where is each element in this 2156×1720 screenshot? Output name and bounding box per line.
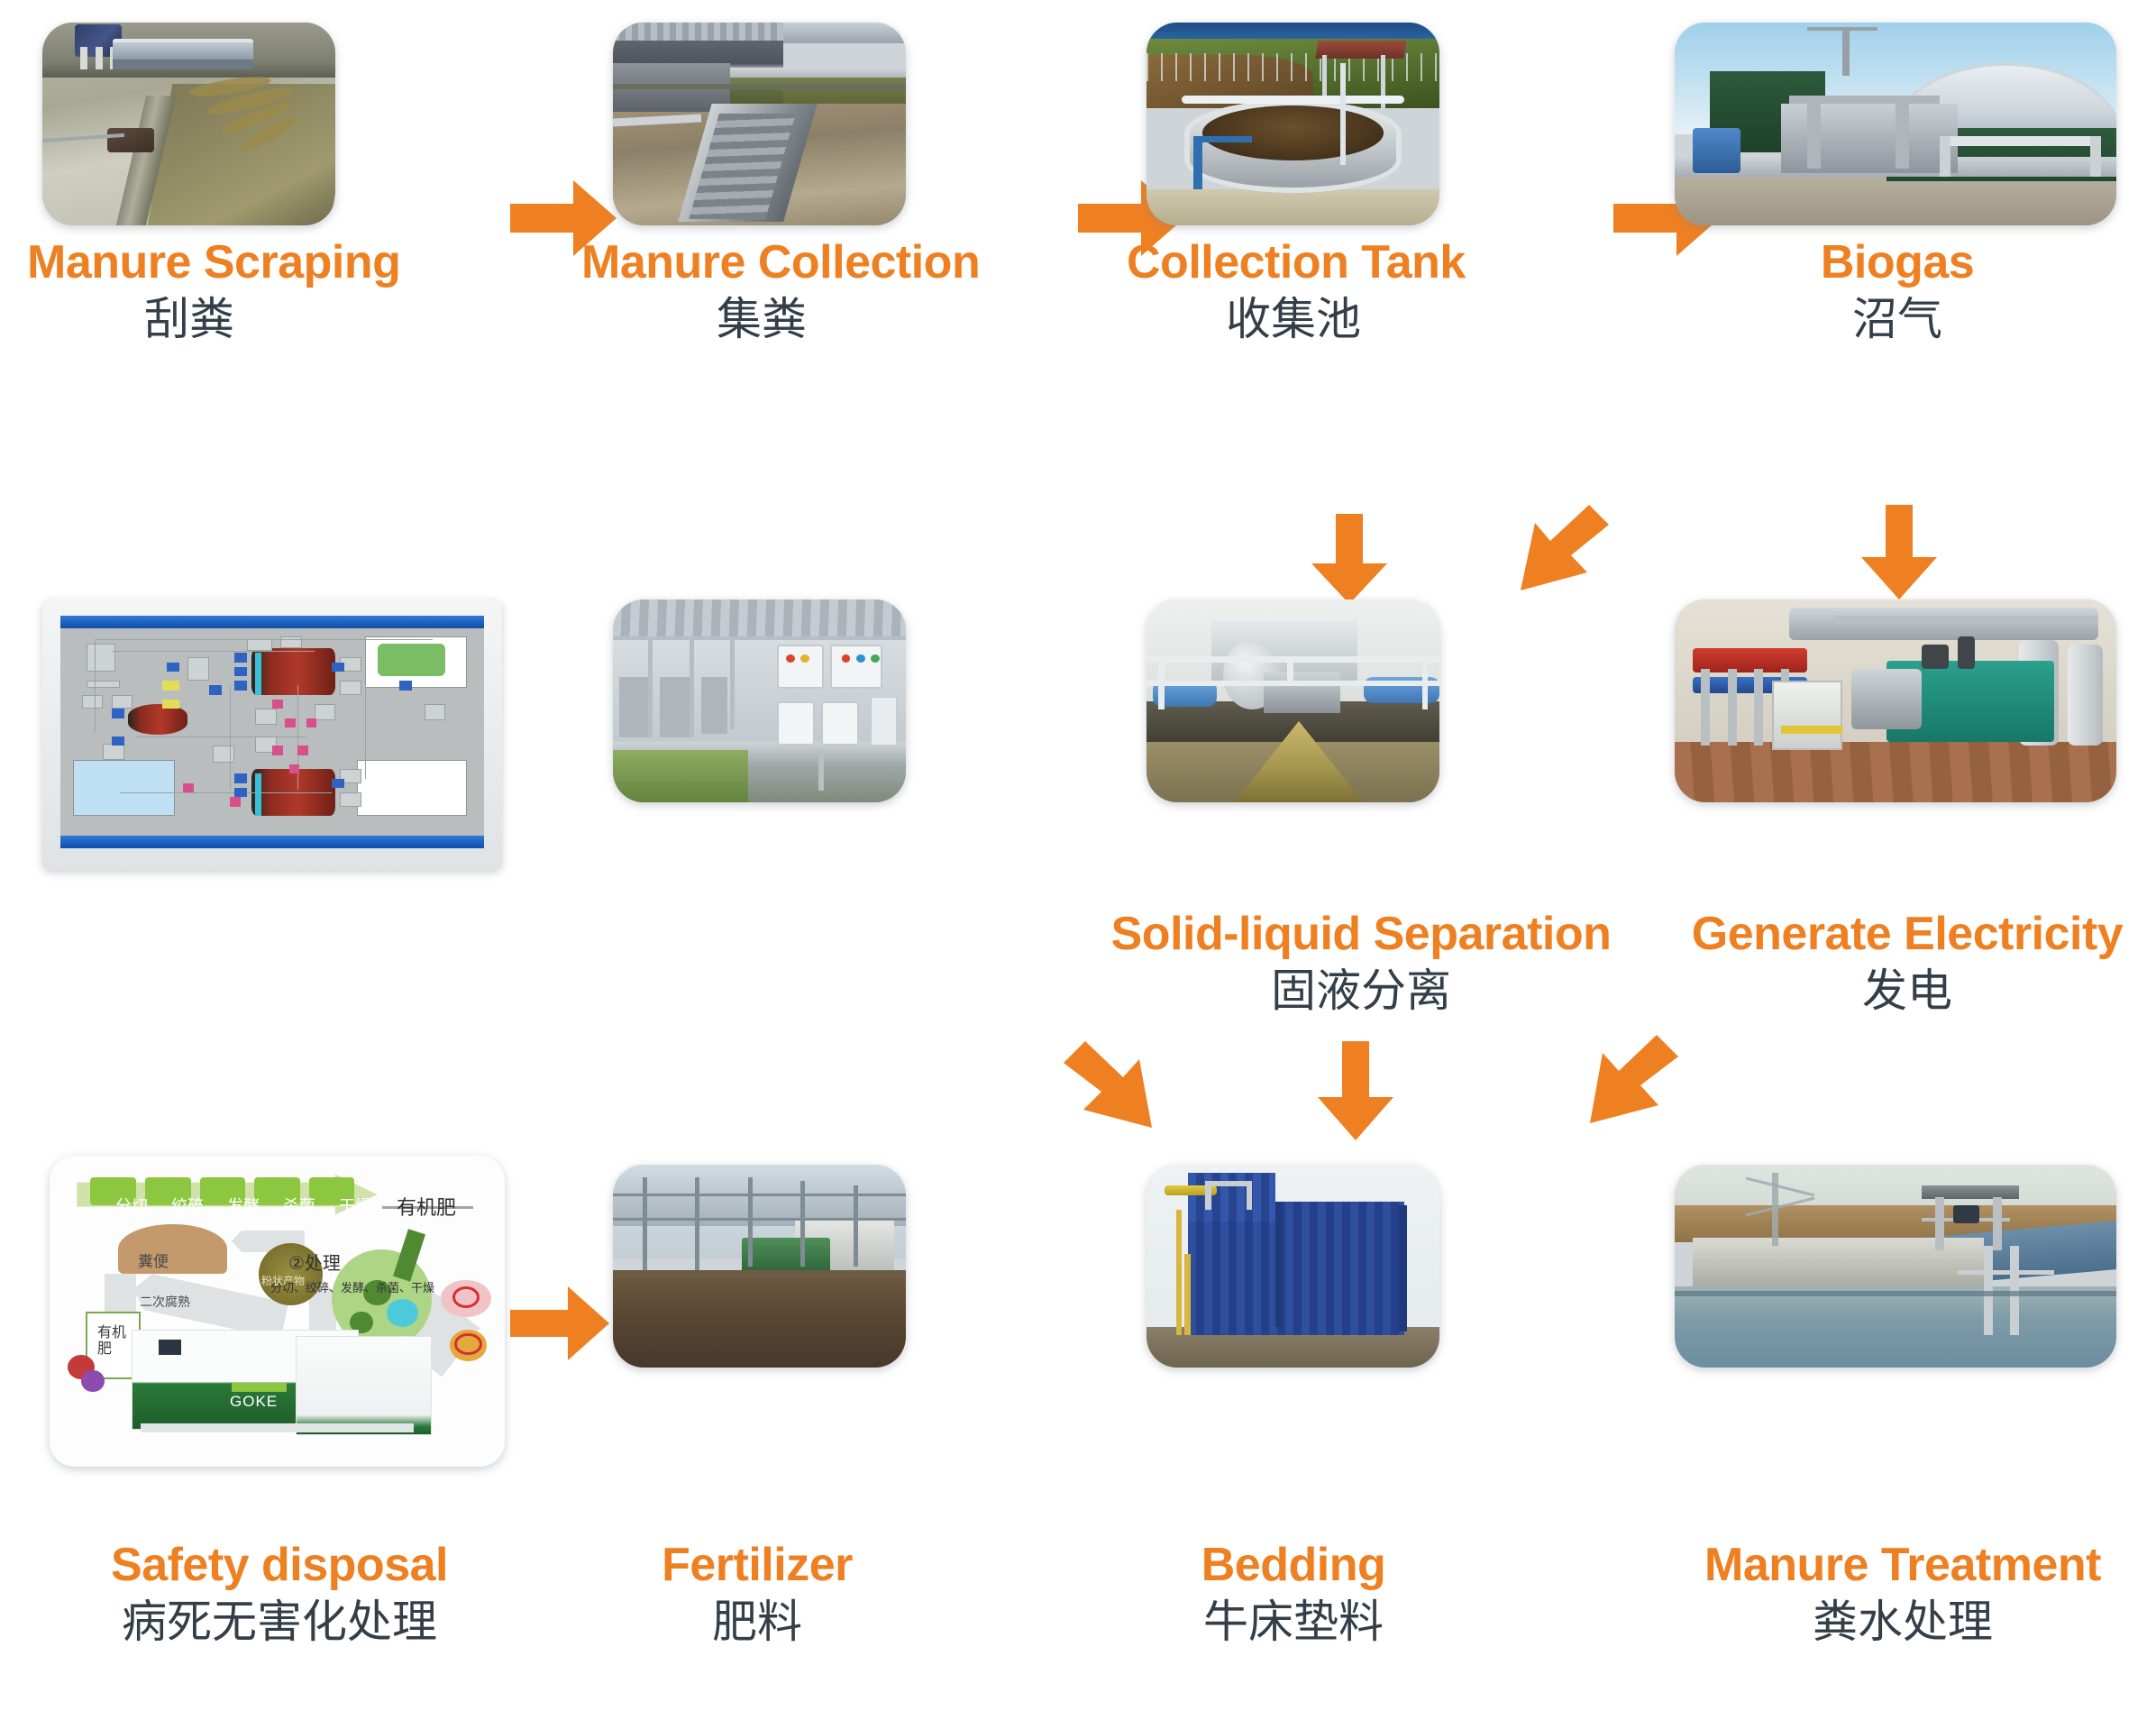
label-zh: 肥料 (577, 1599, 937, 1644)
label-safety-disposal: Safety disposal 病死无害化处理 (9, 1542, 550, 1644)
label-en: Generate Electricity (1658, 910, 2156, 957)
label-generate-electricity: Generate Electricity 发电 (1658, 910, 2156, 1013)
label-zh: 牛床垫料 (1113, 1599, 1474, 1644)
label-solid-liquid-separation: Solid-liquid Separation 固液分离 (1064, 910, 1658, 1013)
label-zh: 发电 (1658, 968, 2156, 1013)
process-flow-diagram: Manure Scraping 刮粪 Manure Collection 集粪 … (0, 0, 2156, 1720)
photo-manure-collection (613, 23, 906, 225)
label-zh: 集粪 (581, 297, 942, 342)
label-en: Biogas (1740, 239, 2055, 286)
photo-generate-electricity (1675, 599, 2116, 802)
label-en: Manure Scraping (27, 239, 352, 286)
label-zh: 病死无害化处理 (9, 1599, 550, 1644)
label-zh: 收集池 (1127, 297, 1460, 342)
photo-bedding (1147, 1165, 1439, 1368)
photo-collection-tank (1147, 23, 1439, 225)
label-biogas: Biogas 沼气 (1740, 239, 2055, 342)
label-fertilizer: Fertilizer 肥料 (577, 1542, 937, 1644)
label-en: Solid-liquid Separation (1064, 910, 1658, 957)
label-en: Manure Treatment (1649, 1542, 2156, 1588)
label-en: Collection Tank (1127, 239, 1460, 286)
arrow-biogas-in-diagonal (1501, 505, 1609, 604)
label-zh: 刮粪 (27, 297, 352, 342)
photo-scada-control (42, 599, 502, 870)
label-zh: 沼气 (1740, 297, 2055, 342)
photo-barn-control-panels (613, 599, 906, 802)
label-en: Fertilizer (577, 1542, 937, 1588)
label-en: Manure Collection (581, 239, 942, 286)
label-zh: 粪水处理 (1649, 1599, 2156, 1644)
arrow-biogas-to-electricity (1861, 505, 1937, 599)
label-manure-scraping: Manure Scraping 刮粪 (27, 239, 352, 342)
label-manure-treatment: Manure Treatment 粪水处理 (1649, 1542, 2156, 1644)
photo-fertilizer (613, 1165, 906, 1368)
label-en: Bedding (1113, 1542, 1474, 1588)
label-bedding: Bedding 牛床垫料 (1113, 1542, 1474, 1644)
label-en: Safety disposal (9, 1542, 550, 1588)
arrow-tank-to-separation (1311, 514, 1387, 604)
photo-safety-disposal (50, 1156, 505, 1467)
arrow-separation-to-fertilizer (1064, 1041, 1172, 1139)
label-zh: 固液分离 (1064, 968, 1658, 1013)
arrow-separation-to-treatment (1570, 1035, 1678, 1136)
photo-manure-scraping (42, 23, 335, 225)
photo-biogas (1675, 23, 2116, 225)
photo-solid-liquid-separation (1147, 599, 1439, 802)
arrow-disposal-to-fertilizer (510, 1286, 609, 1360)
arrow-separation-to-bedding (1318, 1041, 1393, 1140)
photo-manure-treatment (1675, 1165, 2116, 1368)
label-manure-collection: Manure Collection 集粪 (581, 239, 942, 342)
label-collection-tank: Collection Tank 收集池 (1127, 239, 1460, 342)
